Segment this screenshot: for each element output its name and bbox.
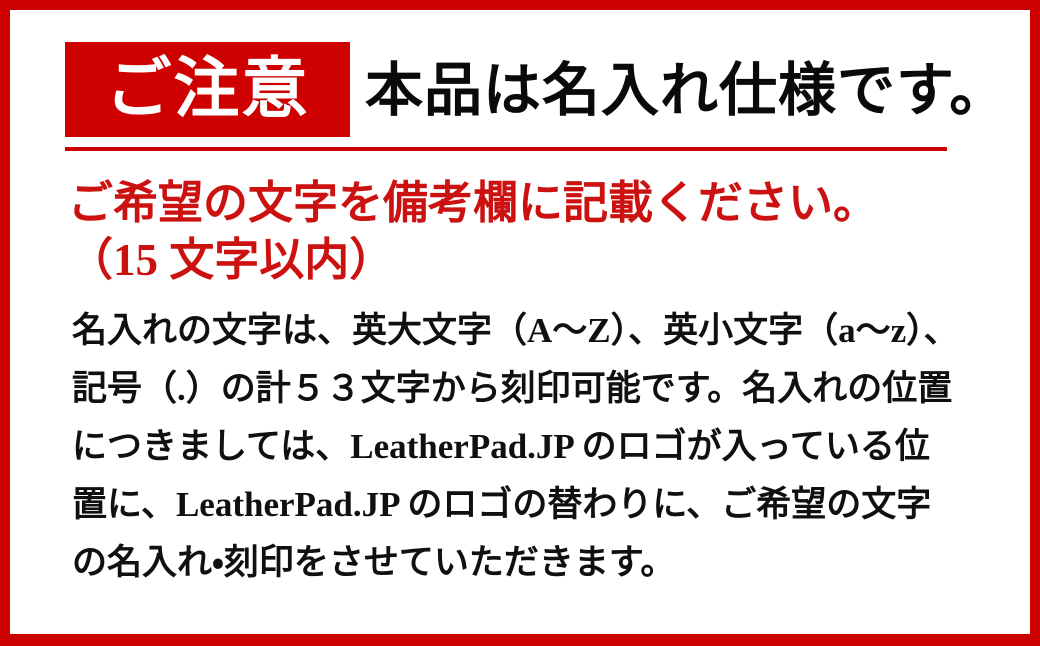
emphasis-block: ご希望の文字を備考欄に記載ください。 （15 文字以内） [68, 175, 968, 289]
body-line-3: につきましては、LeatherPad.JP のロゴが入っている位 [72, 418, 962, 476]
emphasis-line-1: ご希望の文字を備考欄に記載ください。 [68, 175, 968, 232]
notice-banner: ご注意 本品は名入れ仕様です。 ご希望の文字を備考欄に記載ください。 （15 文… [0, 0, 1040, 646]
header-row: ご注意 本品は名入れ仕様です。 [65, 42, 995, 147]
body-line-1: 名入れの文字は、英大文字（A～Z）、英小文字（a～z）、 [72, 302, 962, 360]
body-line-4: 置に、LeatherPad.JP のロゴの替わりに、ご希望の文字 [72, 476, 962, 534]
headline-divider [65, 147, 947, 151]
page-title: 本品は名入れ仕様です。 [365, 42, 995, 137]
body-line-5: の名入れ・刻印をさせていただきます。 [72, 534, 962, 592]
body-line-2: 記号（.）の計５３文字から刻印可能です。名入れの位置 [72, 360, 962, 418]
caution-badge: ご注意 [65, 42, 350, 137]
body-copy: 名入れの文字は、英大文字（A～Z）、英小文字（a～z）、 記号（.）の計５３文字… [72, 302, 962, 592]
emphasis-line-2: （15 文字以内） [68, 232, 968, 289]
